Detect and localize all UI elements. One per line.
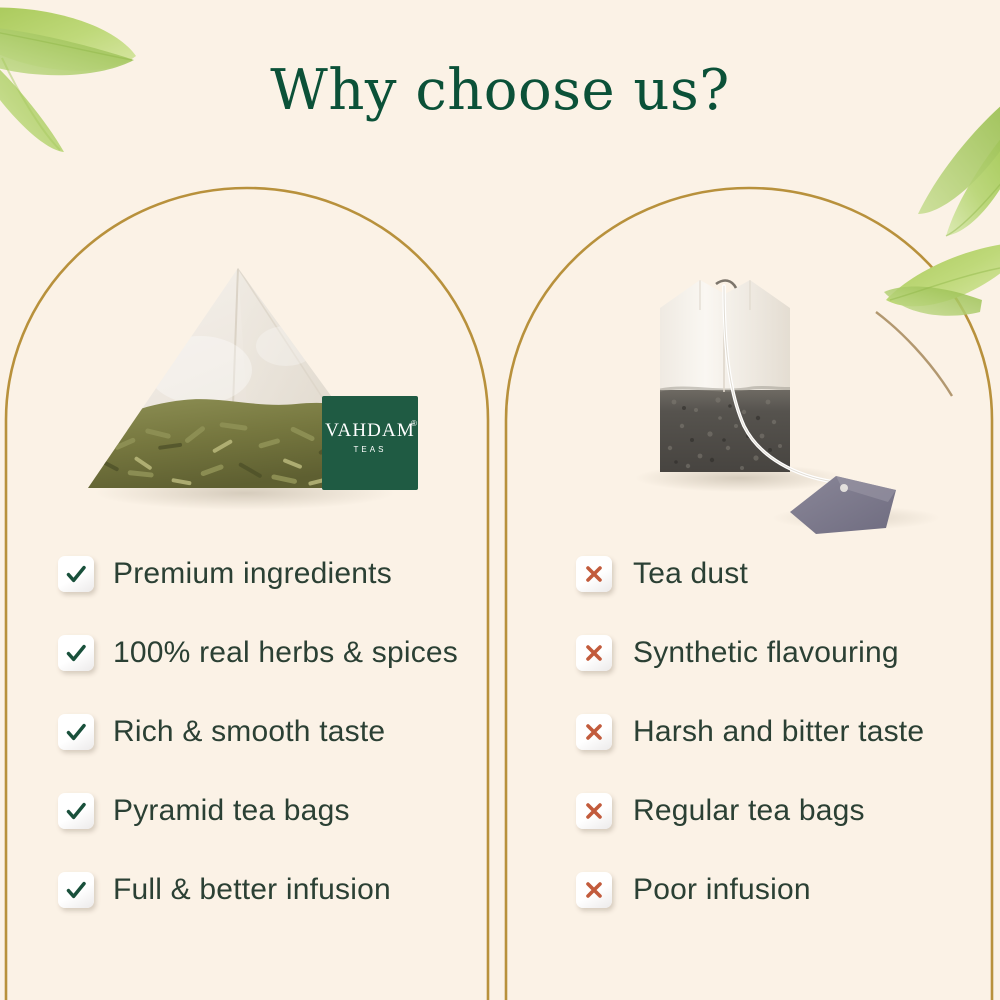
page-title: Why choose us? [0, 58, 1000, 123]
list-item-label: Poor infusion [633, 873, 811, 907]
cross-icon [576, 793, 612, 829]
list-item-label: Rich & smooth taste [113, 715, 385, 749]
list-item: Synthetic flavouring [576, 613, 976, 692]
list-item: Poor infusion [576, 850, 976, 929]
list-item-label: Full & better infusion [113, 873, 391, 907]
check-icon [58, 872, 94, 908]
benefits-list-vahdam: Premium ingredients 100% real herbs & sp… [58, 534, 488, 929]
list-item-label: Synthetic flavouring [633, 636, 899, 670]
pyramid-tea-bag-photo: VAHDAM ® TEAS [80, 250, 440, 520]
comparison-graphic: Why choose us? [0, 0, 1000, 1000]
list-item: Rich & smooth taste [58, 692, 488, 771]
list-item-label: Harsh and bitter taste [633, 715, 924, 749]
brand-registered: ® [411, 419, 417, 428]
check-icon [58, 793, 94, 829]
list-item: Tea dust [576, 534, 976, 613]
list-item: Full & better infusion [58, 850, 488, 929]
list-item: 100% real herbs & spices [58, 613, 488, 692]
vahdam-brand-tag: VAHDAM ® TEAS [322, 396, 418, 490]
drawbacks-list-regular: Tea dust Synthetic flavouring Harsh and … [576, 534, 976, 929]
cross-icon [576, 714, 612, 750]
list-item: Pyramid tea bags [58, 771, 488, 850]
cross-icon [576, 872, 612, 908]
brand-name: VAHDAM [325, 420, 415, 441]
list-item: Harsh and bitter taste [576, 692, 976, 771]
regular-tea-bag-photo [620, 250, 950, 535]
check-icon [58, 556, 94, 592]
list-item-label: 100% real herbs & spices [113, 636, 458, 670]
list-item-label: Pyramid tea bags [113, 794, 350, 828]
list-item-label: Regular tea bags [633, 794, 865, 828]
check-icon [58, 635, 94, 671]
brand-subtitle: TEAS [354, 445, 387, 454]
cross-icon [576, 635, 612, 671]
check-icon [58, 714, 94, 750]
cross-icon [576, 556, 612, 592]
list-item-label: Tea dust [633, 557, 748, 591]
list-item-label: Premium ingredients [113, 557, 392, 591]
list-item: Regular tea bags [576, 771, 976, 850]
list-item: Premium ingredients [58, 534, 488, 613]
